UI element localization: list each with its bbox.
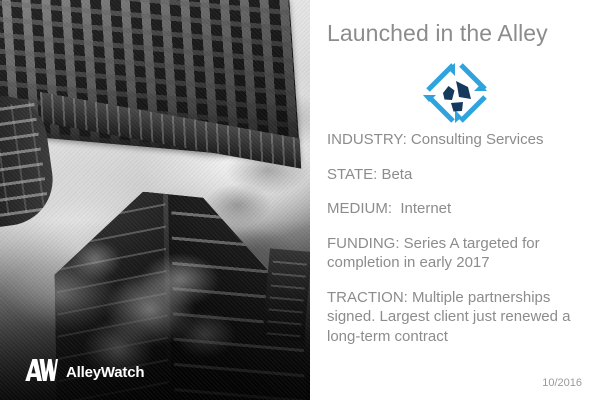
fact-funding: FUNDING: Series A targeted for completio… (327, 234, 585, 273)
alleywatch-logo: AlleyWatch (24, 359, 144, 386)
fact-medium: MEDIUM: Internet (327, 199, 585, 219)
photo-grain (0, 0, 310, 400)
page-title: Launched in the Alley (327, 20, 548, 47)
hero-photo: AlleyWatch (0, 0, 310, 400)
launched-in-the-alley-card: AlleyWatch Launched in the Alley (0, 0, 600, 400)
company-facts-list: INDUSTRY: Consulting Services STATE: Bet… (327, 130, 585, 361)
diamond-rotating-arrows-logo-icon (415, 57, 495, 134)
fact-industry: INDUSTRY: Consulting Services (327, 130, 585, 150)
fact-traction: TRACTION: Multiple partnerships signed. … (327, 288, 585, 347)
content-panel: Launched in the Alley (310, 0, 600, 400)
alleywatch-monogram-icon (24, 359, 58, 386)
alleywatch-wordmark: AlleyWatch (66, 365, 144, 380)
date-stamp: 10/2016 (542, 377, 582, 389)
fact-state: STATE: Beta (327, 165, 585, 185)
